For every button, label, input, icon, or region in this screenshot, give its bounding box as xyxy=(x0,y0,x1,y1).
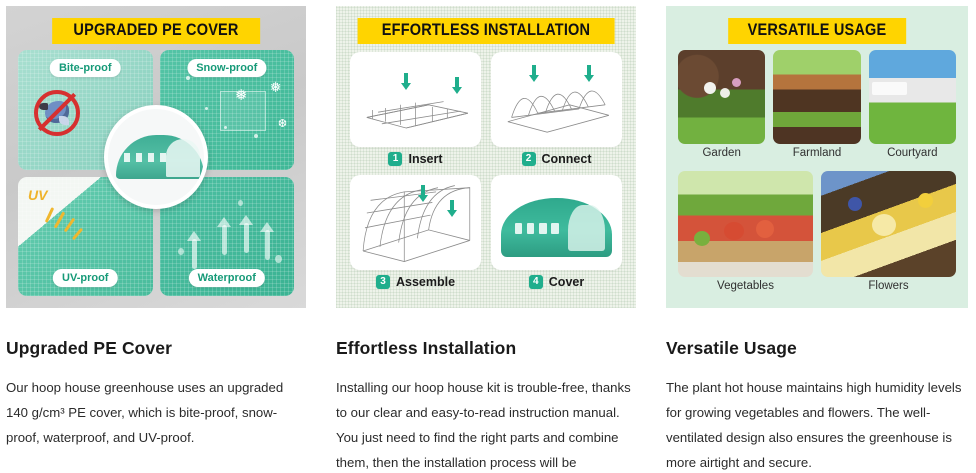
feature-highlights-section: UPGRADED PE COVER Bite-proof xyxy=(0,0,976,473)
step-label: Insert xyxy=(408,152,442,166)
banner-upgraded-pe-cover: UPGRADED PE COVER xyxy=(52,18,260,44)
step-label: Cover xyxy=(549,275,584,289)
feature-title: Upgraded PE Cover xyxy=(6,338,306,359)
usage-cell-garden: Garden xyxy=(678,50,765,163)
usage-cell-courtyard: Courtyard xyxy=(869,50,956,163)
flower-blob xyxy=(720,88,730,98)
hoop-house-illustration xyxy=(116,135,204,179)
banner-effortless-installation: EFFORTLESS INSTALLATION xyxy=(358,18,615,44)
greenhouse-closeup-inset xyxy=(104,105,208,209)
step-number-badge: 2 xyxy=(522,152,536,166)
versatile-usage-text: Versatile Usage The plant hot house main… xyxy=(660,308,976,473)
house-shape xyxy=(872,82,907,95)
garden-photo xyxy=(678,50,765,144)
snowflake-icon: ❅ xyxy=(270,80,282,94)
step-label: Assemble xyxy=(396,275,455,289)
feature-columns: UPGRADED PE COVER Bite-proof xyxy=(0,0,976,473)
step-connect: 2 Connect xyxy=(491,52,622,171)
step-illustration-card xyxy=(491,175,622,270)
versatile-usage-image: VERSATILE USAGE Garden xyxy=(666,6,968,308)
feature-body: Our hoop house greenhouse uses an upgrad… xyxy=(6,375,306,450)
installation-image: EFFORTLESS INSTALLATION xyxy=(336,6,636,308)
uv-label: UV xyxy=(28,187,47,203)
pe-cover-image: UPGRADED PE COVER Bite-proof xyxy=(6,6,306,308)
flower-blob xyxy=(732,78,741,87)
feature-column-installation: EFFORTLESS INSTALLATION xyxy=(330,0,660,473)
flowers-photo xyxy=(821,171,956,277)
usage-label: Flowers xyxy=(821,277,956,296)
banner-label: VERSATILE USAGE xyxy=(748,21,887,40)
feature-column-pe-cover: UPGRADED PE COVER Bite-proof xyxy=(0,0,330,473)
pepper-blob xyxy=(694,231,710,246)
feature-body: The plant hot house maintains high humid… xyxy=(666,375,964,473)
step-number-badge: 1 xyxy=(388,152,402,166)
usage-label: Vegetables xyxy=(678,277,813,296)
step-assemble: 3 Assemble xyxy=(350,175,481,294)
usage-row-top: Garden Farmland Courtyard xyxy=(678,50,956,163)
step-number-badge: 3 xyxy=(376,275,390,289)
flower-blob xyxy=(918,193,933,208)
no-bird-icon xyxy=(34,90,80,136)
water-droplet xyxy=(238,200,243,206)
chip-waterproof: Waterproof xyxy=(189,269,265,287)
step-illustration-card xyxy=(491,52,622,147)
farmland-photo xyxy=(773,50,860,144)
usage-label: Courtyard xyxy=(869,144,956,163)
covered-greenhouse-illustration xyxy=(501,198,611,257)
chip-uv-proof: UV-proof xyxy=(53,269,117,287)
usage-cell-vegetables: Vegetables xyxy=(678,171,813,296)
snowflake-icon: ❆ xyxy=(278,119,287,130)
pepper-blob xyxy=(756,220,774,238)
chip-bite-proof: Bite-proof xyxy=(50,59,121,77)
step-caption: 4 Cover xyxy=(491,270,622,294)
step-number-badge: 4 xyxy=(529,275,543,289)
usage-cell-flowers: Flowers xyxy=(821,171,956,296)
snow-dot xyxy=(254,134,258,138)
step-illustration-card xyxy=(350,52,481,147)
installation-steps: 1 Insert xyxy=(350,52,622,294)
step-illustration-card xyxy=(350,175,481,270)
snowflake-icon: ❅ xyxy=(235,88,248,103)
banner-label: UPGRADED PE COVER xyxy=(73,21,238,40)
courtyard-photo xyxy=(869,50,956,144)
banner-versatile-usage: VERSATILE USAGE xyxy=(728,18,906,44)
feature-title: Effortless Installation xyxy=(336,338,636,359)
installation-text: Effortless Installation Installing our h… xyxy=(330,308,660,473)
step-caption: 1 Insert xyxy=(350,147,481,171)
flower-blob xyxy=(848,197,862,211)
vegetables-photo xyxy=(678,171,813,277)
step-caption: 3 Assemble xyxy=(350,270,481,294)
feature-body: Installing our hoop house kit is trouble… xyxy=(336,375,636,473)
usage-row-bottom: Vegetables Flowers xyxy=(678,171,956,296)
feature-title: Versatile Usage xyxy=(666,338,964,359)
usage-cell-farmland: Farmland xyxy=(773,50,860,163)
step-insert: 1 Insert xyxy=(350,52,481,171)
feature-column-versatile-usage: VERSATILE USAGE Garden xyxy=(660,0,976,473)
tomato-blob xyxy=(724,222,744,240)
banner-label: EFFORTLESS INSTALLATION xyxy=(382,21,590,40)
pe-cover-text: Upgraded PE Cover Our hoop house greenho… xyxy=(0,308,330,450)
step-caption: 2 Connect xyxy=(491,147,622,171)
step-label: Connect xyxy=(542,152,592,166)
chip-snow-proof: Snow-proof xyxy=(187,59,266,77)
frame-assembled-diagram xyxy=(350,175,481,270)
usage-grid: Garden Farmland Courtyard xyxy=(678,50,956,296)
flower-blob xyxy=(872,214,896,236)
usage-label: Garden xyxy=(678,144,765,163)
frame-base-diagram xyxy=(350,52,481,147)
flower-blob xyxy=(704,82,716,94)
usage-label: Farmland xyxy=(773,144,860,163)
frame-hoops-diagram xyxy=(491,52,622,147)
step-cover: 4 Cover xyxy=(491,175,622,294)
